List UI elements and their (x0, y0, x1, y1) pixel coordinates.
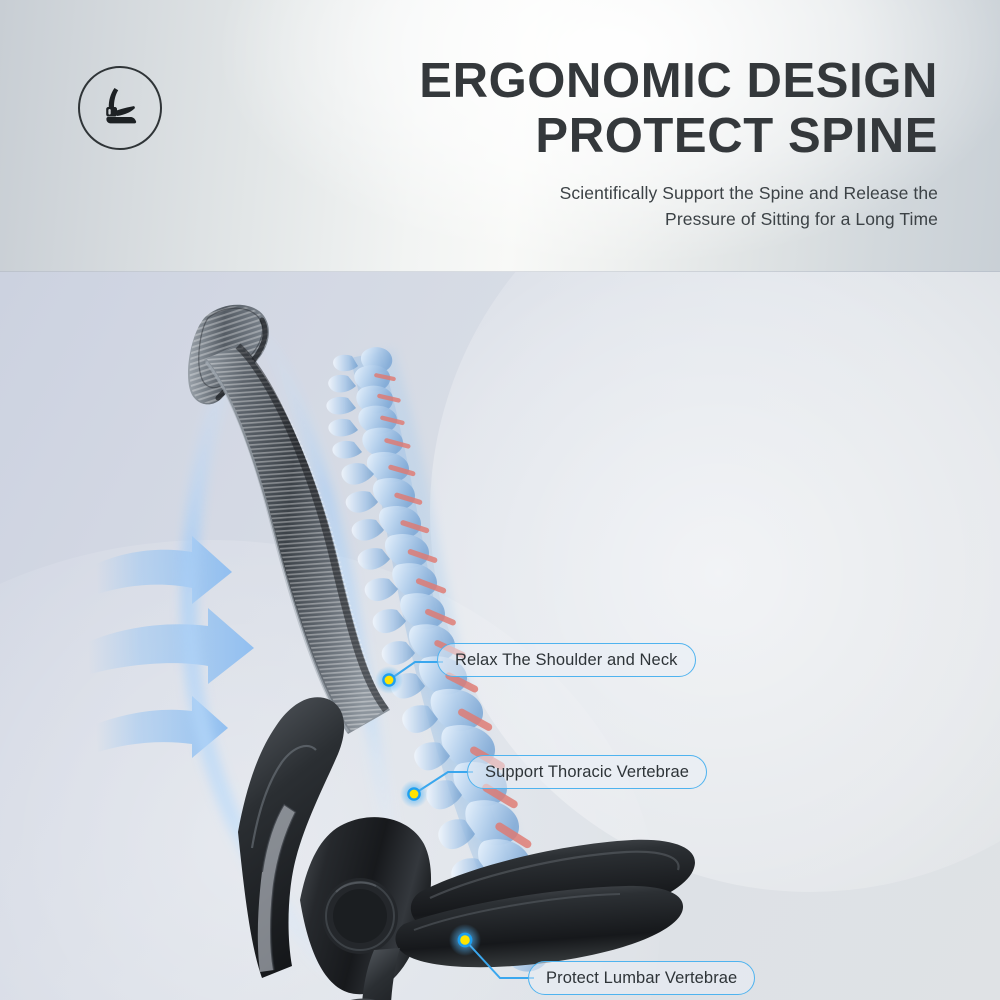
airflow-arrow-group (88, 536, 254, 758)
header-text-block: ERGONOMIC DESIGN PROTECT SPINE Scientifi… (318, 54, 938, 232)
page-title-line-1: ERGONOMIC DESIGN (318, 54, 938, 109)
brand-logo (78, 66, 162, 150)
airflow-arrow-1 (96, 536, 232, 604)
page-title-line-2: PROTECT SPINE (318, 109, 938, 164)
airflow-arrow-2 (88, 608, 254, 684)
callout-support-thoracic-vertebrae[interactable]: Support Thoracic Vertebrae (467, 755, 707, 789)
spine-marker-lumbar (449, 924, 481, 956)
callout-label: Protect Lumbar Vertebrae (546, 969, 737, 988)
illustration-stage (0, 272, 1000, 1000)
infographic-page: ERGONOMIC DESIGN PROTECT SPINE Scientifi… (0, 0, 1000, 1000)
header-subtitle-line-1: Scientifically Support the Spine and Rel… (318, 180, 938, 206)
chair-spine-illustration (0, 272, 1000, 1000)
product-illustration-panel: Relax The Shoulder and Neck Support Thor… (0, 272, 1000, 1000)
callout-protect-lumbar-vertebrae[interactable]: Protect Lumbar Vertebrae (528, 961, 755, 995)
callout-label: Relax The Shoulder and Neck (455, 651, 678, 670)
spine-marker-cervical (375, 666, 403, 694)
spine-marker-thoracic (400, 780, 428, 808)
header-banner: ERGONOMIC DESIGN PROTECT SPINE Scientifi… (0, 0, 1000, 272)
header-subtitle: Scientifically Support the Spine and Rel… (318, 180, 938, 232)
callout-label: Support Thoracic Vertebrae (485, 763, 689, 782)
header-subtitle-line-2: Pressure of Sitting for a Long Time (318, 206, 938, 232)
callout-relax-shoulder-neck[interactable]: Relax The Shoulder and Neck (437, 643, 696, 677)
office-chair-seat-icon (94, 82, 146, 134)
